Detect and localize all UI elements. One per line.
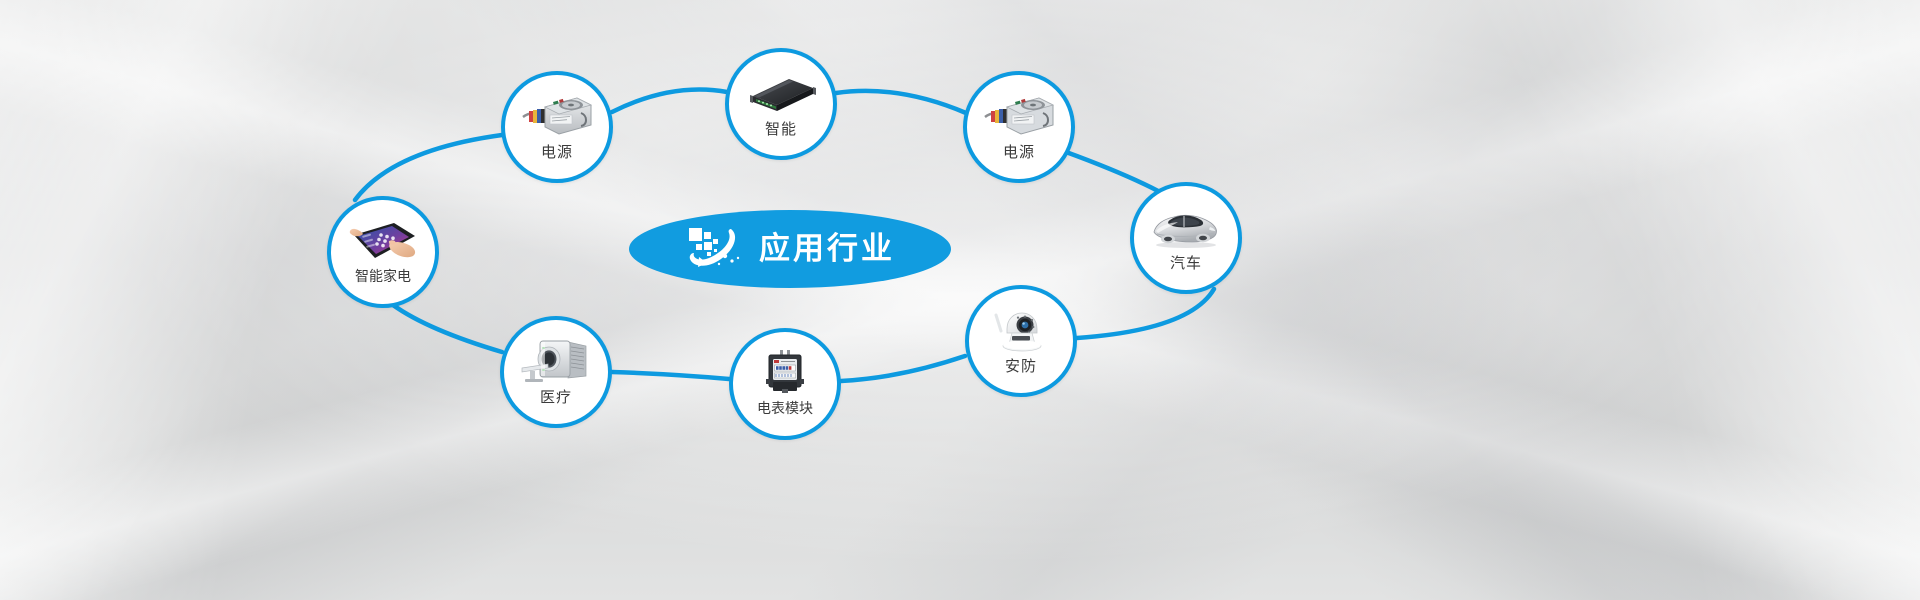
center-badge: 应用行业 xyxy=(629,210,951,288)
power-supply-unit-icon xyxy=(519,89,595,143)
arc-powerleft-smart xyxy=(612,90,727,113)
node-automotive[interactable]: 汽车 xyxy=(1130,182,1242,294)
arc-meter-medical xyxy=(612,372,729,379)
tablet-touch-icon xyxy=(345,214,421,268)
node-label: 电源 xyxy=(541,145,573,160)
node-power-right[interactable]: 电源 xyxy=(963,71,1075,183)
ip-camera-icon xyxy=(983,303,1059,357)
node-label: 医疗 xyxy=(540,390,572,405)
node-label: 电表模块 xyxy=(757,402,813,416)
arc-automotive-security xyxy=(1077,289,1214,338)
arc-smarthome-powerleft xyxy=(355,135,502,200)
arc-security-meter xyxy=(841,356,965,381)
electric-meter-icon xyxy=(747,346,823,400)
node-security[interactable]: 安防 xyxy=(965,285,1077,397)
node-label: 安防 xyxy=(1005,359,1037,374)
power-supply-unit-icon xyxy=(981,89,1057,143)
node-label: 电源 xyxy=(1003,145,1035,160)
node-power-left[interactable]: 电源 xyxy=(501,71,613,183)
node-medical[interactable]: 医疗 xyxy=(500,316,612,428)
node-label: 智能 xyxy=(765,122,797,137)
badge-label: 应用行业 xyxy=(759,234,895,265)
node-label: 智能家电 xyxy=(355,270,411,284)
node-smart[interactable]: 智能 xyxy=(725,48,837,160)
connector-arcs xyxy=(0,0,1920,600)
rack-server-icon xyxy=(743,66,819,120)
mri-scanner-icon xyxy=(518,334,594,388)
sports-car-icon xyxy=(1148,200,1224,254)
arc-smart-powerright xyxy=(836,91,966,113)
orbit-swoosh-pixel-logo-icon xyxy=(685,223,745,275)
arc-medical-smarthome xyxy=(393,305,502,352)
arc-powerright-automotive xyxy=(1066,152,1160,192)
infographic-stage: 应用行业 xyxy=(0,0,1920,600)
node-label: 汽车 xyxy=(1170,256,1202,271)
node-smart-home[interactable]: 智能家电 xyxy=(327,196,439,308)
node-meter[interactable]: 电表模块 xyxy=(729,328,841,440)
